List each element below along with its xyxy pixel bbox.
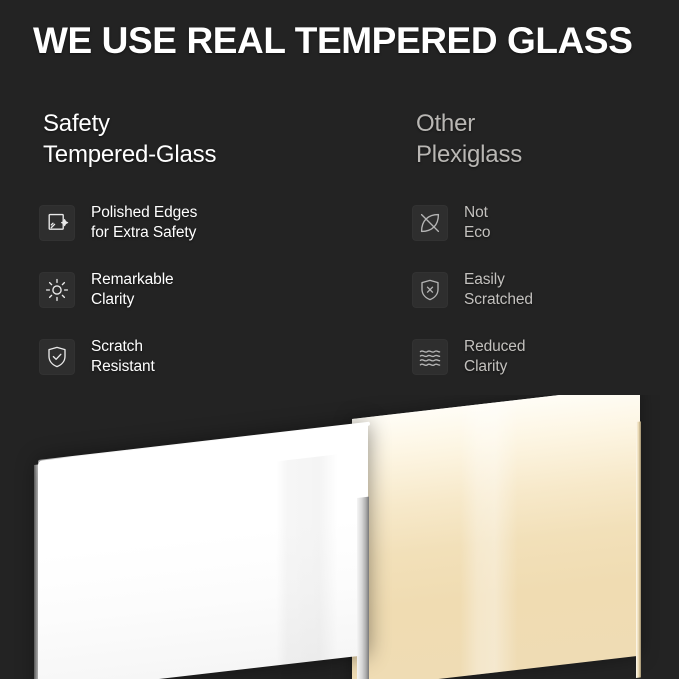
feature-label-line-1: Easily — [464, 270, 533, 290]
feature-label: Remarkable Clarity — [91, 270, 174, 310]
plexiglass-panel-right-edge — [636, 421, 641, 678]
column-title-line-2: Plexiglass — [416, 139, 674, 170]
feature-scratch-resistant: Scratch Resistant — [39, 339, 369, 375]
feature-label: Scratch Resistant — [91, 337, 155, 377]
polished-edge-sparkle-icon — [39, 205, 75, 241]
tempered-glass-panel — [38, 423, 368, 679]
feature-list-tempered-glass: Polished Edges for Extra Safety — [39, 205, 369, 375]
feature-label-line-1: Reduced — [464, 337, 525, 357]
column-title-line-2: Tempered-Glass — [43, 139, 369, 170]
comparison-infographic: WE USE REAL TEMPERED GLASS Safety Temper… — [0, 0, 679, 679]
column-tempered-glass: Safety Tempered-Glass Polished Edges for… — [39, 108, 369, 375]
feature-polished-edges: Polished Edges for Extra Safety — [39, 205, 369, 241]
feature-remarkable-clarity: Remarkable Clarity — [39, 272, 369, 308]
feature-label-line-2: Scratched — [464, 290, 533, 310]
tempered-glass-panel-right-edge — [357, 497, 369, 679]
feature-label-line-2: for Extra Safety — [91, 223, 197, 243]
leaf-crossed-out-icon — [412, 205, 448, 241]
column-plexiglass: Other Plexiglass Not Eco — [412, 108, 674, 375]
feature-label: Reduced Clarity — [464, 337, 525, 377]
feature-label-line-2: Clarity — [91, 290, 174, 310]
feature-label: Polished Edges for Extra Safety — [91, 203, 197, 243]
feature-label-line-1: Polished Edges — [91, 203, 197, 223]
feature-label-line-1: Not — [464, 203, 490, 223]
feature-list-plexiglass: Not Eco Easily Scratched — [412, 205, 674, 375]
feature-label: Easily Scratched — [464, 270, 533, 310]
feature-reduced-clarity: Reduced Clarity — [412, 339, 674, 375]
column-title-plexiglass: Other Plexiglass — [416, 108, 674, 170]
feature-easily-scratched: Easily Scratched — [412, 272, 674, 308]
feature-label-line-2: Resistant — [91, 357, 155, 377]
feature-label-line-2: Clarity — [464, 357, 525, 377]
wavy-lines-icon — [412, 339, 448, 375]
product-photo — [0, 395, 679, 679]
feature-label: Not Eco — [464, 203, 490, 243]
column-title-line-1: Safety — [43, 108, 369, 139]
plexiglass-panel — [352, 395, 640, 679]
page-title: WE USE REAL TEMPERED GLASS — [33, 18, 663, 64]
column-title-tempered-glass: Safety Tempered-Glass — [43, 108, 369, 170]
feature-label-line-2: Eco — [464, 223, 490, 243]
sun-brightness-icon — [39, 272, 75, 308]
column-title-line-1: Other — [416, 108, 674, 139]
feature-label-line-1: Remarkable — [91, 270, 174, 290]
feature-not-eco: Not Eco — [412, 205, 674, 241]
shield-check-icon — [39, 339, 75, 375]
shield-x-icon — [412, 272, 448, 308]
feature-label-line-1: Scratch — [91, 337, 155, 357]
